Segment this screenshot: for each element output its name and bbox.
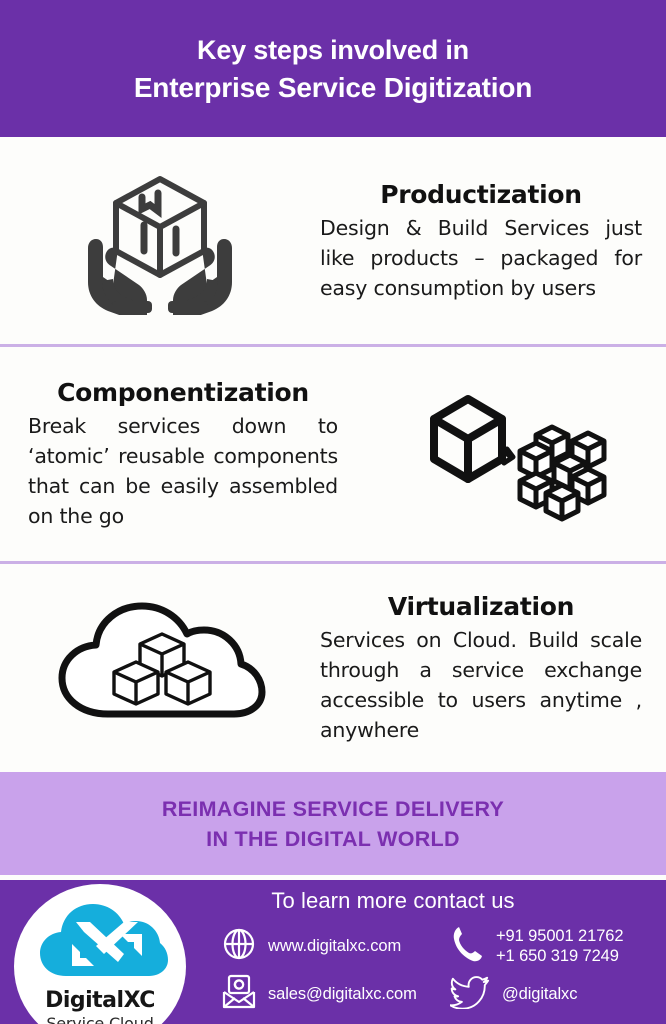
step-section-componentization: Componentization Break services down to …: [0, 347, 666, 562]
tagline-banner: REIMAGINE SERVICE DELIVERY IN THE DIGITA…: [0, 772, 666, 875]
step-body-productization: Design & Build Services just like produc…: [320, 213, 642, 303]
contact-email[interactable]: sales@digitalxc.com: [222, 970, 450, 1018]
tagline-line-1: REIMAGINE SERVICE DELIVERY: [162, 794, 504, 824]
virtualization-text-cell: Virtualization Services on Cloud. Build …: [320, 592, 666, 745]
cloud-with-cubes-icon: [50, 596, 270, 741]
step-title-componentization: Componentization: [28, 378, 338, 407]
header-title-line-1: Key steps involved in: [197, 31, 469, 69]
tagline-line-2: IN THE DIGITAL WORLD: [206, 824, 460, 854]
contact-grid: www.digitalxc.com +91 95001 21762 +1 650…: [222, 922, 666, 1018]
header-title-line-2: Enterprise Service Digitization: [134, 69, 532, 107]
contact-phone[interactable]: +91 95001 21762 +1 650 319 7249: [450, 922, 666, 970]
contact-email-text: sales@digitalxc.com: [268, 984, 417, 1004]
phone-icon: [450, 924, 484, 969]
contact-website-text: www.digitalxc.com: [268, 936, 401, 956]
envelope-at-icon: [222, 974, 256, 1015]
componentization-icon-cell: [366, 377, 666, 532]
step-body-componentization: Break services down to ‘atomic’ reusable…: [28, 411, 338, 531]
step-body-virtualization: Services on Cloud. Build scale through a…: [320, 625, 642, 745]
contact-twitter[interactable]: @digitalxc: [450, 970, 666, 1018]
contact-twitter-text: @digitalxc: [502, 984, 577, 1004]
logo-tagline: Service Cloud: [46, 1014, 153, 1024]
logo-company-name: DigitalXC: [45, 988, 155, 1013]
contact-website[interactable]: www.digitalxc.com: [222, 922, 450, 970]
hands-holding-box-icon: [76, 163, 244, 320]
productization-text-cell: Productization Design & Build Services j…: [320, 180, 666, 303]
header-banner: Key steps involved in Enterprise Service…: [0, 0, 666, 137]
footer-heading: To learn more contact us: [0, 888, 666, 914]
contact-phone-text: +91 95001 21762 +1 650 319 7249: [496, 926, 623, 966]
step-section-virtualization: Virtualization Services on Cloud. Build …: [0, 564, 666, 772]
step-title-productization: Productization: [320, 180, 642, 209]
cube-to-components-icon: [416, 377, 616, 532]
footer-contact-bar: DigitalXC Service Cloud To learn more co…: [0, 880, 666, 1024]
step-title-virtualization: Virtualization: [320, 592, 642, 621]
virtualization-icon-cell: [0, 596, 320, 741]
globe-icon: [222, 927, 256, 966]
infographic-page: Key steps involved in Enterprise Service…: [0, 0, 666, 1024]
productization-icon-cell: [0, 163, 320, 320]
componentization-text-cell: Componentization Break services down to …: [0, 378, 366, 531]
step-section-productization: Productization Design & Build Services j…: [0, 137, 666, 345]
twitter-bird-icon: [450, 975, 490, 1014]
